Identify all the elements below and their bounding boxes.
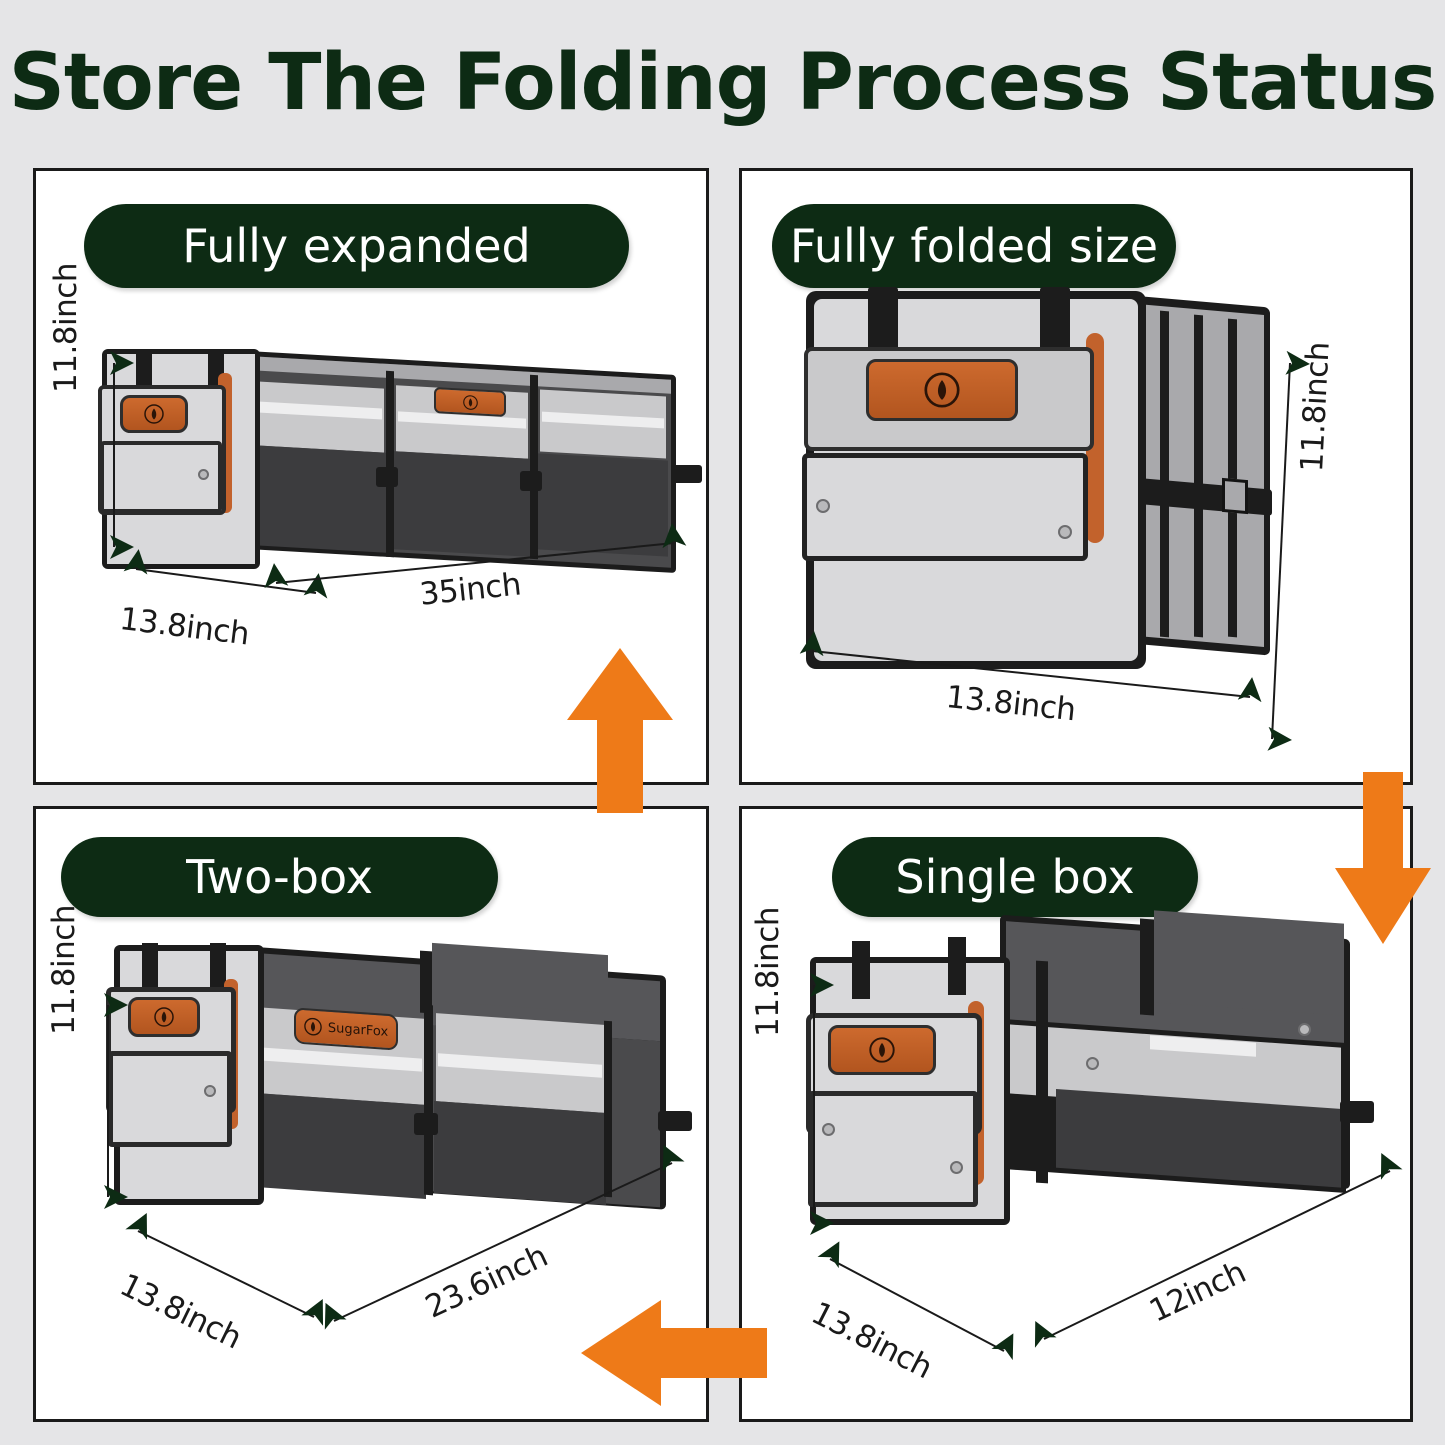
- leaf-badge-icon: [463, 394, 478, 410]
- panel-label-fully-folded-size: Fully folded size: [772, 204, 1176, 288]
- dimension-label-height: 11.8inch: [750, 907, 786, 1037]
- dimension-arrow-width: [1034, 1161, 1404, 1351]
- panel-single-box: Single box: [739, 806, 1413, 1422]
- brand-patch-expanded-side: [120, 395, 188, 433]
- dimension-arrow-height: [1258, 353, 1298, 749]
- leaf-badge-icon: [154, 1007, 174, 1027]
- panel-fully-folded-size: Fully folded size: [739, 168, 1413, 785]
- brand-patch-two-box-side: [128, 997, 200, 1037]
- dimension-arrow-height: [802, 975, 826, 1233]
- dimension-label-height: 11.8inch: [48, 263, 84, 393]
- flow-arrow-down-icon: [1335, 772, 1431, 944]
- dimension-label-height: 11.8inch: [1294, 341, 1337, 473]
- leaf-badge-icon: [869, 1037, 895, 1063]
- leaf-badge-icon: [304, 1017, 322, 1036]
- page-title: Store The Folding Process Status: [0, 38, 1445, 128]
- leaf-badge-icon: [924, 372, 960, 408]
- brand-patch-single-box: [828, 1025, 936, 1075]
- product-image-fully-folded: [790, 287, 1310, 687]
- brand-patch-expanded: [434, 387, 506, 417]
- flow-arrow-left-icon: [581, 1300, 767, 1406]
- dimension-arrow-height: [96, 995, 120, 1207]
- brand-patch-folded: [866, 359, 1018, 421]
- dimension-arrow-height: [102, 353, 126, 557]
- panel-label-two-box: Two-box: [61, 837, 498, 917]
- panel-label-fully-expanded: Fully expanded: [84, 204, 629, 288]
- brand-name-two-box: SugarFox: [328, 1020, 388, 1039]
- dimension-label-height: 11.8inch: [46, 905, 82, 1035]
- dimension-label-depth: 13.8inch: [118, 601, 251, 653]
- flow-arrow-up-icon: [567, 648, 673, 813]
- panel-label-single-box: Single box: [832, 837, 1198, 917]
- leaf-badge-icon: [144, 404, 164, 424]
- brand-patch-two-box: SugarFox: [294, 1007, 398, 1050]
